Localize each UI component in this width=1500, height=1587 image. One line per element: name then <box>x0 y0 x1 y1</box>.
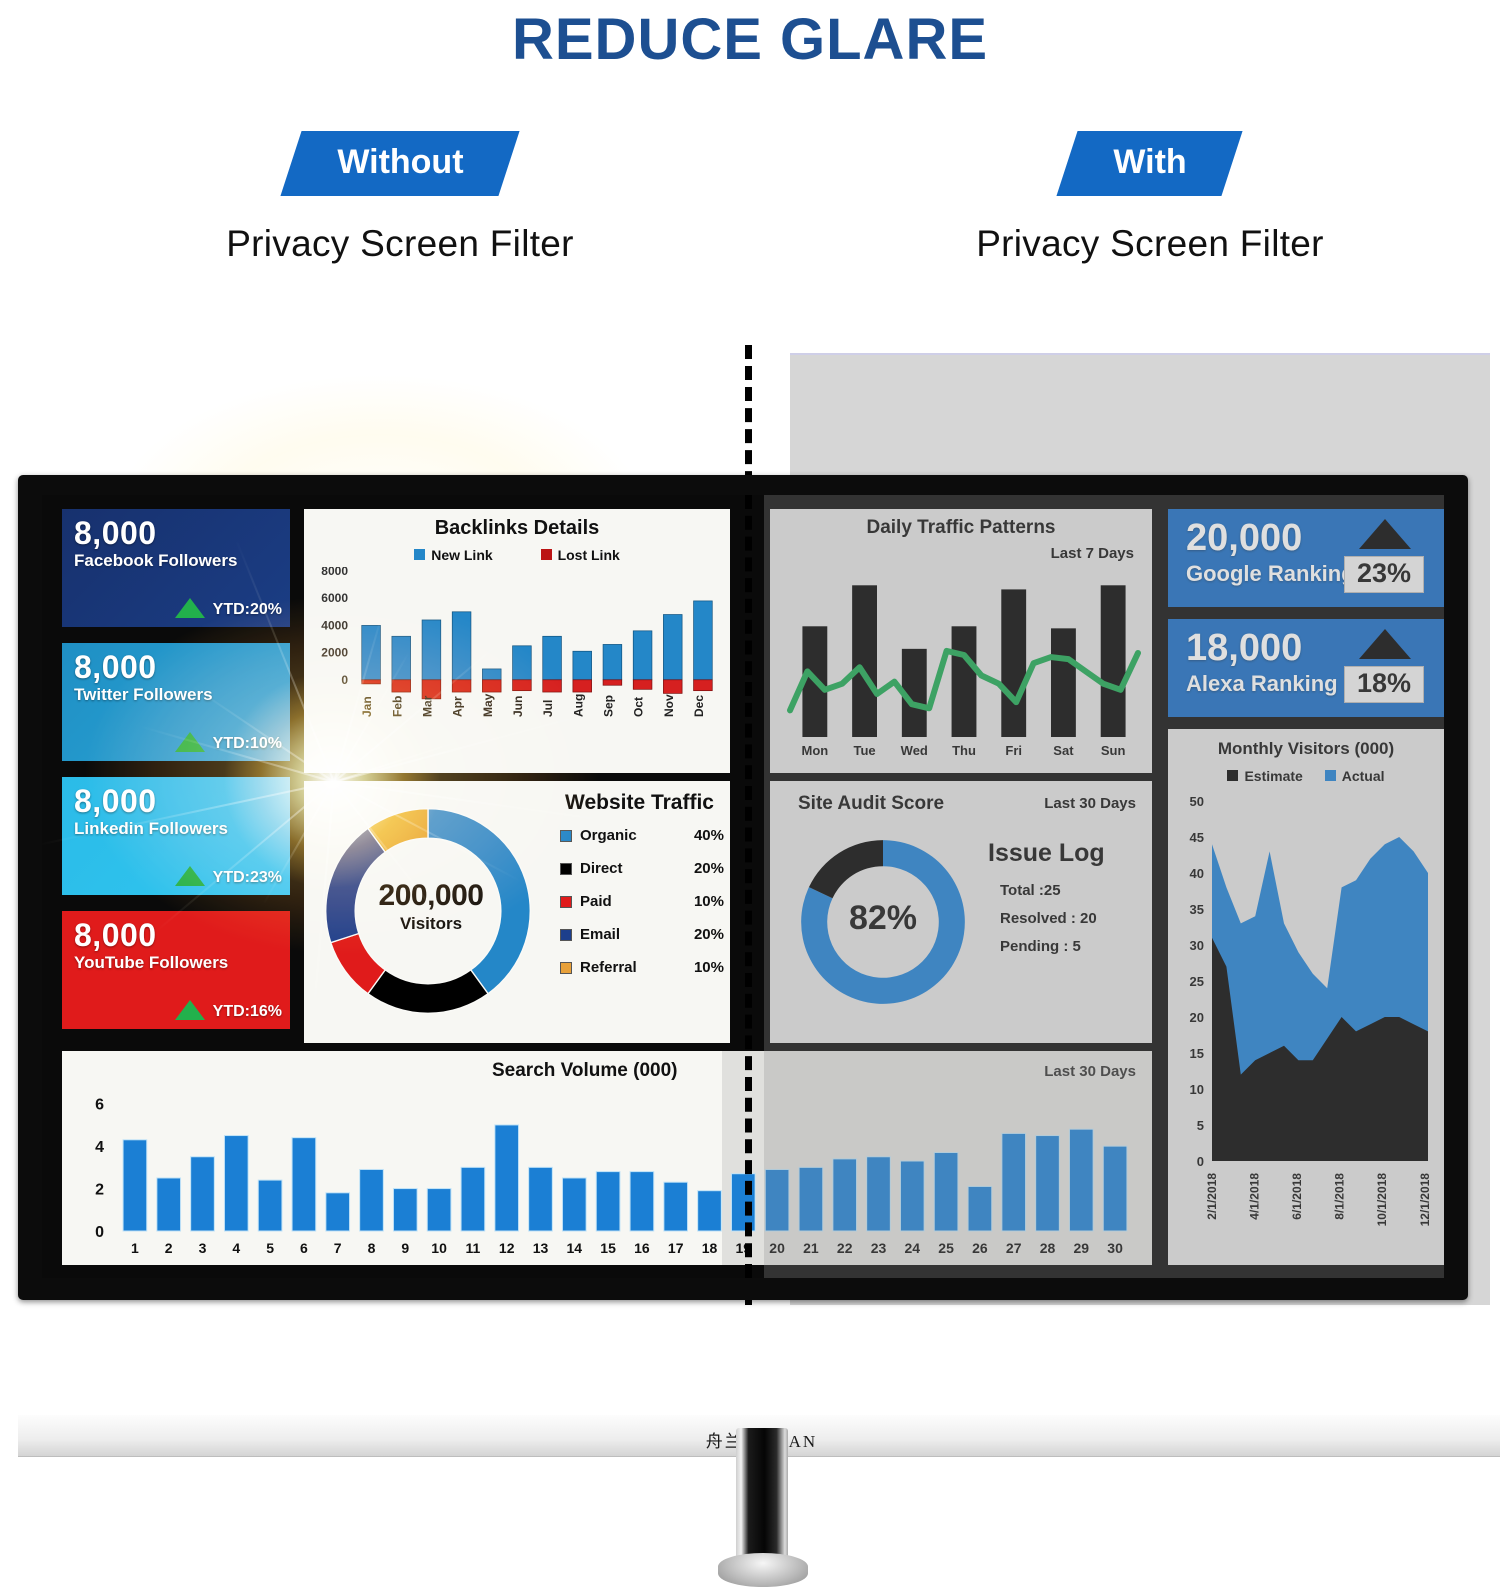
with-badge: With <box>1057 131 1243 196</box>
legend-item: Paid10% <box>560 893 724 910</box>
legend-swatch-new-link <box>414 549 425 560</box>
legend-label: Email <box>580 926 694 943</box>
legend-label: Referral <box>580 959 694 976</box>
backlinks-chart-svg: 80006000400020000JanFebMarAprMayJunJulAu… <box>304 567 730 767</box>
legend-item: Email20% <box>560 926 724 943</box>
search-volume-title: Search Volume (000) <box>492 1060 678 1082</box>
kpi-ytd: YTD:10% <box>175 732 282 753</box>
legend-item: Organic40% <box>560 827 724 844</box>
svg-text:13: 13 <box>533 1240 549 1256</box>
kpi-value: 8,000 <box>74 651 280 683</box>
kpi-ytd: YTD:16% <box>175 1000 282 1021</box>
svg-text:8000: 8000 <box>321 567 348 578</box>
legend-swatch <box>560 896 572 908</box>
kpi-value: 8,000 <box>74 517 280 549</box>
kpi-ytd: YTD:23% <box>175 866 282 887</box>
rank-card-alexa[interactable]: 18,000 Alexa Ranking 18% <box>1168 619 1444 717</box>
svg-text:Mar: Mar <box>420 695 434 717</box>
svg-text:24: 24 <box>905 1240 921 1256</box>
legend-estimate: Estimate <box>1227 768 1306 784</box>
kpi-ytd-label: YTD:20% <box>213 601 282 618</box>
svg-text:25: 25 <box>938 1240 954 1256</box>
svg-text:40: 40 <box>1190 866 1204 881</box>
svg-text:Jan: Jan <box>360 696 374 717</box>
svg-text:Dec: Dec <box>692 695 706 717</box>
website-traffic-title: Website Traffic <box>565 791 714 815</box>
svg-text:2000: 2000 <box>321 646 348 660</box>
donut-center-value: 200,000 <box>366 879 496 913</box>
kpi-label: Facebook Followers <box>74 551 280 571</box>
legend-label: Paid <box>580 893 694 910</box>
rank-pct: 18% <box>1344 666 1424 703</box>
svg-text:6: 6 <box>300 1240 308 1256</box>
issue-log: Issue Log Total :25 Resolved : 20 Pendin… <box>988 839 1148 955</box>
svg-text:5: 5 <box>266 1240 274 1256</box>
svg-text:2: 2 <box>165 1240 173 1256</box>
svg-text:14: 14 <box>567 1240 583 1256</box>
svg-text:30: 30 <box>1190 938 1204 953</box>
kpi-card-facebook[interactable]: 8,000 Facebook Followers YTD:20% <box>62 509 290 627</box>
backlinks-title: Backlinks Details <box>304 509 730 540</box>
kpi-ytd-label: YTD:16% <box>213 1003 282 1020</box>
svg-text:Jun: Jun <box>511 696 525 717</box>
svg-text:12/1/2018: 12/1/2018 <box>1418 1173 1432 1227</box>
svg-text:7: 7 <box>334 1240 342 1256</box>
svg-text:5: 5 <box>1197 1118 1204 1133</box>
legend-swatch <box>560 830 572 842</box>
legend-swatch-actual <box>1325 770 1336 781</box>
panel-monthly-visitors: Monthly Visitors (000) Estimate Actual 5… <box>1168 729 1444 1265</box>
panel-website-traffic: Website Traffic 200,000 Visitors Organic… <box>304 781 730 1043</box>
monthly-visitors-legend: Estimate Actual <box>1168 768 1444 786</box>
svg-text:50: 50 <box>1190 794 1204 809</box>
svg-text:11: 11 <box>465 1240 480 1256</box>
site-audit-subtitle: Last 30 Days <box>1044 795 1136 812</box>
svg-text:1: 1 <box>131 1240 139 1256</box>
svg-text:Apr: Apr <box>451 696 465 717</box>
panel-search-volume: Search Volume (000) Last 30 Days 6420123… <box>62 1051 1152 1265</box>
without-subtitle: Privacy Screen Filter <box>130 223 670 265</box>
svg-text:15: 15 <box>1190 1046 1204 1061</box>
monthly-visitors-title: Monthly Visitors (000) <box>1168 729 1444 759</box>
kpi-value: 8,000 <box>74 785 280 817</box>
issue-log-total: Total :25 <box>988 882 1148 899</box>
monitor-scene: 8,000 Facebook Followers YTD:20% 8,000 T… <box>0 345 1500 1458</box>
svg-text:9: 9 <box>401 1240 409 1256</box>
legend-value: 10% <box>694 893 724 910</box>
daily-traffic-title: Daily Traffic Patterns <box>770 509 1152 539</box>
svg-text:0: 0 <box>341 673 348 687</box>
legend-label: Direct <box>580 860 694 877</box>
screen-divider-dashes <box>745 495 752 1278</box>
legend-actual: Actual <box>1325 768 1385 784</box>
svg-text:Jul: Jul <box>541 700 555 717</box>
svg-text:45: 45 <box>1190 830 1204 845</box>
triangle-up-icon <box>175 598 205 618</box>
svg-text:26: 26 <box>972 1240 988 1256</box>
site-audit-score: 82% <box>790 899 976 938</box>
svg-text:Nov: Nov <box>662 694 676 717</box>
daily-traffic-subtitle: Last 7 Days <box>1051 545 1134 562</box>
svg-text:10: 10 <box>1190 1082 1204 1097</box>
svg-text:12: 12 <box>499 1240 515 1256</box>
svg-text:23: 23 <box>871 1240 887 1256</box>
svg-text:6000: 6000 <box>321 591 348 605</box>
svg-text:10: 10 <box>431 1240 447 1256</box>
monthly-visitors-chart-svg: 504540353025201510502/1/20184/1/20186/1/… <box>1168 791 1444 1261</box>
svg-text:2/1/2018: 2/1/2018 <box>1205 1173 1219 1220</box>
dashboard: 8,000 Facebook Followers YTD:20% 8,000 T… <box>42 495 1444 1278</box>
legend-item: Direct20% <box>560 860 724 877</box>
svg-text:Wed: Wed <box>901 743 928 758</box>
svg-text:15: 15 <box>600 1240 616 1256</box>
svg-text:25: 25 <box>1190 974 1204 989</box>
svg-text:10/1/2018: 10/1/2018 <box>1375 1173 1389 1227</box>
kpi-ytd-label: YTD:23% <box>213 869 282 886</box>
without-badge: Without <box>280 131 519 196</box>
legend-item: Referral10% <box>560 959 724 976</box>
kpi-label: YouTube Followers <box>74 953 280 973</box>
legend-swatch-lost-link <box>541 549 552 560</box>
svg-text:21: 21 <box>803 1240 819 1256</box>
legend-value: 20% <box>694 926 724 943</box>
triangle-up-icon <box>1359 629 1411 659</box>
svg-text:20: 20 <box>1190 1010 1204 1025</box>
svg-text:Thu: Thu <box>952 743 976 758</box>
svg-text:May: May <box>481 693 495 717</box>
kpi-card-youtube[interactable]: 8,000 YouTube Followers YTD:16% <box>62 911 290 1029</box>
site-audit-title: Site Audit Score <box>798 793 944 815</box>
svg-text:Aug: Aug <box>571 694 585 717</box>
svg-text:Feb: Feb <box>390 696 404 717</box>
legend-swatch <box>560 863 572 875</box>
svg-text:2: 2 <box>95 1182 104 1199</box>
svg-text:17: 17 <box>668 1240 684 1256</box>
monitor-stand-neck <box>736 1428 788 1558</box>
svg-text:Oct: Oct <box>632 697 646 717</box>
svg-text:28: 28 <box>1040 1240 1056 1256</box>
monitor: 8,000 Facebook Followers YTD:20% 8,000 T… <box>18 475 1468 1300</box>
kpi-card-twitter[interactable]: 8,000 Twitter Followers YTD:10% <box>62 643 290 761</box>
with-badge-label: With <box>1114 143 1187 182</box>
monitor-screen: 8,000 Facebook Followers YTD:20% 8,000 T… <box>42 495 1444 1278</box>
triangle-up-icon <box>175 732 205 752</box>
panel-site-audit: Site Audit Score Last 30 Days 82% Issue … <box>770 781 1152 1043</box>
svg-text:8/1/2018: 8/1/2018 <box>1333 1173 1347 1220</box>
panel-backlinks: Backlinks Details New Link Lost Link 800… <box>304 509 730 773</box>
svg-text:27: 27 <box>1006 1240 1022 1256</box>
svg-text:Sep: Sep <box>601 695 615 717</box>
svg-text:35: 35 <box>1190 902 1204 917</box>
triangle-up-icon <box>175 1000 205 1020</box>
svg-text:22: 22 <box>837 1240 853 1256</box>
kpi-ytd-label: YTD:10% <box>213 735 282 752</box>
issue-log-pending: Pending : 5 <box>988 938 1148 955</box>
svg-text:20: 20 <box>769 1240 785 1256</box>
panel-daily-traffic: Daily Traffic Patterns Last 7 Days MonTu… <box>770 509 1152 773</box>
legend-value: 20% <box>694 860 724 877</box>
svg-text:18: 18 <box>702 1240 718 1256</box>
kpi-label: Linkedin Followers <box>74 819 280 839</box>
monitor-stand-base <box>718 1553 808 1587</box>
with-column: With Privacy Screen Filter <box>880 73 1420 265</box>
triangle-up-icon <box>1359 519 1411 549</box>
legend-value: 10% <box>694 959 724 976</box>
with-subtitle: Privacy Screen Filter <box>880 223 1420 265</box>
without-badge-label: Without <box>337 143 463 182</box>
legend-label: Organic <box>580 827 694 844</box>
donut-center: 200,000 Visitors <box>366 879 496 934</box>
svg-text:4: 4 <box>95 1139 104 1156</box>
donut-center-label: Visitors <box>366 914 496 934</box>
svg-text:29: 29 <box>1074 1240 1090 1256</box>
svg-text:Tue: Tue <box>853 743 875 758</box>
website-traffic-legend: Organic40%Direct20%Paid10%Email20%Referr… <box>560 827 724 992</box>
legend-new-link: New Link <box>414 547 496 563</box>
backlinks-legend: New Link Lost Link <box>304 547 730 565</box>
svg-text:4: 4 <box>232 1240 240 1256</box>
svg-text:Sat: Sat <box>1053 743 1074 758</box>
svg-text:4000: 4000 <box>321 618 348 632</box>
legend-swatch-estimate <box>1227 770 1238 781</box>
svg-text:30: 30 <box>1107 1240 1123 1256</box>
svg-text:0: 0 <box>1197 1154 1204 1169</box>
issue-log-heading: Issue Log <box>988 839 1148 868</box>
triangle-up-icon <box>175 866 205 886</box>
svg-text:16: 16 <box>634 1240 650 1256</box>
kpi-card-linkedin[interactable]: 8,000 Linkedin Followers YTD:23% <box>62 777 290 895</box>
svg-text:6: 6 <box>95 1097 104 1114</box>
svg-text:Mon: Mon <box>801 743 828 758</box>
comparison-badges: Without Privacy Screen Filter With Priva… <box>0 73 1500 303</box>
svg-text:4/1/2018: 4/1/2018 <box>1248 1173 1262 1220</box>
legend-swatch <box>560 962 572 974</box>
daily-traffic-chart-svg: MonTueWedThuFriSatSun <box>770 567 1152 767</box>
legend-value: 40% <box>694 827 724 844</box>
search-volume-chart-svg: 6420123456789101112131415161718192021222… <box>62 1085 1152 1265</box>
without-column: Without Privacy Screen Filter <box>130 73 670 265</box>
svg-text:3: 3 <box>199 1240 207 1256</box>
svg-text:Fri: Fri <box>1005 743 1022 758</box>
legend-swatch <box>560 929 572 941</box>
rank-card-google[interactable]: 20,000 Google Ranking 23% <box>1168 509 1444 607</box>
kpi-value: 8,000 <box>74 919 280 951</box>
kpi-ytd: YTD:20% <box>175 598 282 619</box>
svg-text:Sun: Sun <box>1101 743 1126 758</box>
svg-text:6/1/2018: 6/1/2018 <box>1290 1173 1304 1220</box>
svg-text:0: 0 <box>95 1224 104 1241</box>
issue-log-resolved: Resolved : 20 <box>988 910 1148 927</box>
kpi-label: Twitter Followers <box>74 685 280 705</box>
rank-pct: 23% <box>1344 556 1424 593</box>
svg-text:8: 8 <box>368 1240 376 1256</box>
page-title: REDUCE GLARE <box>0 0 1500 73</box>
legend-lost-link: Lost Link <box>541 547 620 563</box>
